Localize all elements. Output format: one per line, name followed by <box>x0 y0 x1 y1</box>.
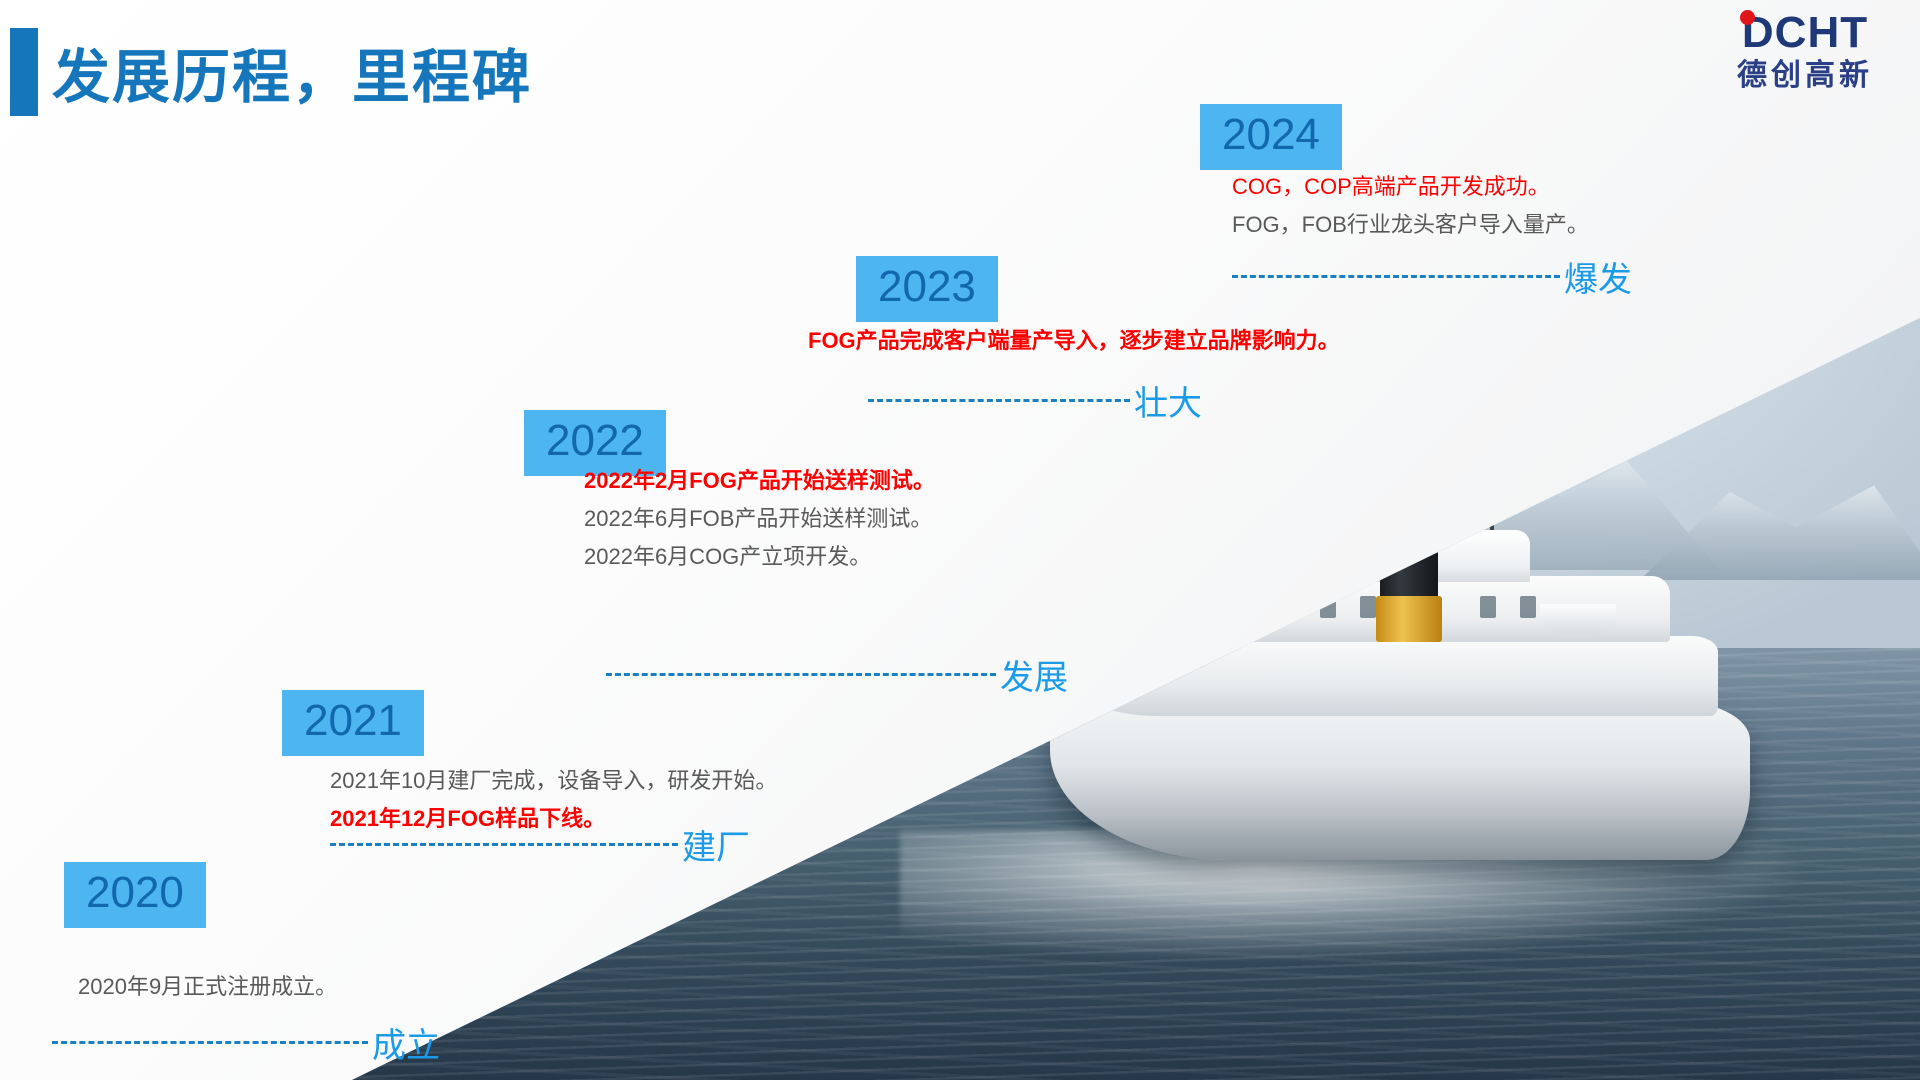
entry-line: 2022年6月COG产立项开发。 <box>584 538 935 576</box>
stage-label-2021: 建厂 <box>682 820 750 869</box>
ship-cabin <box>1200 530 1530 582</box>
dashed-line <box>1232 275 1560 278</box>
entry-line: FOG产品完成客户端量产导入，逐步建立品牌影响力。 <box>808 322 1340 360</box>
stage-label-2024: 爆发 <box>1564 252 1632 301</box>
stage-label-2023: 壮大 <box>1134 376 1202 425</box>
title-accent-bar <box>10 28 38 116</box>
ship-lifeboat <box>1540 604 1616 634</box>
year-badge-2023[interactable]: 2023 <box>856 256 998 322</box>
dashed-line <box>52 1041 368 1044</box>
ship-window <box>1320 596 1336 618</box>
stage-label-2020: 成立 <box>372 1018 440 1067</box>
small-boat <box>640 700 670 710</box>
year-badge-2020[interactable]: 2020 <box>64 862 206 928</box>
entry-line: 2021年10月建厂完成，设备导入，研发开始。 <box>330 762 777 800</box>
mountain-far <box>1030 520 1310 615</box>
entry-lines-2022: 2022年2月FOG产品开始送样测试。 2022年6月FOB产品开始送样测试。 … <box>584 462 935 576</box>
ship-window <box>1280 596 1296 618</box>
ship-funnel <box>1380 460 1438 610</box>
dashed-line <box>330 843 678 846</box>
ship-window <box>1240 596 1256 618</box>
background-photo <box>0 0 1920 1080</box>
ship-upper-hull <box>1068 636 1718 716</box>
connector-2023: 壮大 <box>868 376 1202 425</box>
entry-lines-2020: 2020年9月正式注册成立。 <box>78 968 337 1006</box>
year-badge-2021[interactable]: 2021 <box>282 690 424 756</box>
connector-2021: 建厂 <box>330 820 750 869</box>
ship-hull <box>1050 700 1750 860</box>
connector-2020: 成立 <box>52 1018 440 1067</box>
entry-line: 2022年2月FOG产品开始送样测试。 <box>584 462 935 500</box>
page-title: 发展历程，里程碑 <box>52 30 532 114</box>
year-badge-2024[interactable]: 2024 <box>1200 104 1342 170</box>
logo-secondary-text: 德创高新 <box>1710 58 1900 94</box>
connector-2022: 发展 <box>606 650 1068 699</box>
logo-red-dot-icon <box>1740 10 1755 25</box>
ship-window <box>1360 596 1376 618</box>
entry-lines-2024: COG，COP高端产品开发成功。 FOG，FOB行业龙头客户导入量产。 <box>1232 168 1589 244</box>
entry-line: 2020年9月正式注册成立。 <box>78 968 337 1006</box>
ship-funnel-band <box>1376 596 1442 642</box>
paddle-steamer-ship <box>1050 400 1810 960</box>
slide-canvas: 发展历程，里程碑 DCHT 德创高新 2024 COG，COP高端产品开发成功。… <box>0 0 1920 1080</box>
dashed-line <box>868 399 1130 402</box>
entry-lines-2023: FOG产品完成客户端量产导入，逐步建立品牌影响力。 <box>808 322 1340 360</box>
entry-line: FOG，FOB行业龙头客户导入量产。 <box>1232 206 1589 244</box>
dashed-line <box>606 673 996 676</box>
ship-window <box>1520 596 1536 618</box>
entry-line: COG，COP高端产品开发成功。 <box>1232 168 1589 206</box>
entry-line: 2022年6月FOB产品开始送样测试。 <box>584 500 935 538</box>
stage-label-2022: 发展 <box>1000 650 1068 699</box>
logo-primary-text: DCHT <box>1742 8 1868 57</box>
ship-window <box>1480 596 1496 618</box>
logo-wordmark: DCHT <box>1742 8 1868 58</box>
company-logo: DCHT 德创高新 <box>1710 8 1900 100</box>
connector-2024: 爆发 <box>1232 252 1632 301</box>
